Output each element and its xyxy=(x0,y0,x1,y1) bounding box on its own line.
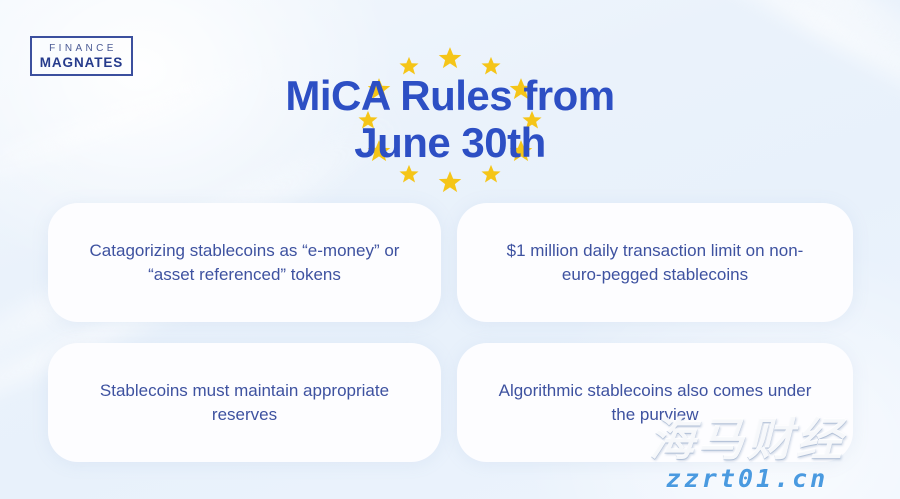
rule-card-text: $1 million daily transaction limit on no… xyxy=(487,239,823,287)
title-block: MiCA Rules from June 30th xyxy=(0,52,900,192)
star-icon xyxy=(437,169,463,195)
rule-card-text: Catagorizing stablecoins as “e-money” or… xyxy=(78,239,411,287)
rule-card: Algorithmic stablecoins also comes under… xyxy=(457,343,853,462)
rule-card: $1 million daily transaction limit on no… xyxy=(457,203,853,322)
rule-card: Catagorizing stablecoins as “e-money” or… xyxy=(48,203,441,322)
rule-card-text: Algorithmic stablecoins also comes under… xyxy=(487,379,823,427)
rule-card-text: Stablecoins must maintain appropriate re… xyxy=(78,379,411,427)
watermark-url: zzrt01.cn xyxy=(602,465,892,493)
page-title-line-1: MiCA Rules from xyxy=(0,72,900,119)
page-title: MiCA Rules from June 30th xyxy=(0,72,900,166)
infographic-canvas: FINANCE MAGNATES MiCA Rules from June 30… xyxy=(0,0,900,499)
star-icon xyxy=(437,45,463,71)
page-title-line-2: June 30th xyxy=(0,119,900,166)
rule-card: Stablecoins must maintain appropriate re… xyxy=(48,343,441,462)
